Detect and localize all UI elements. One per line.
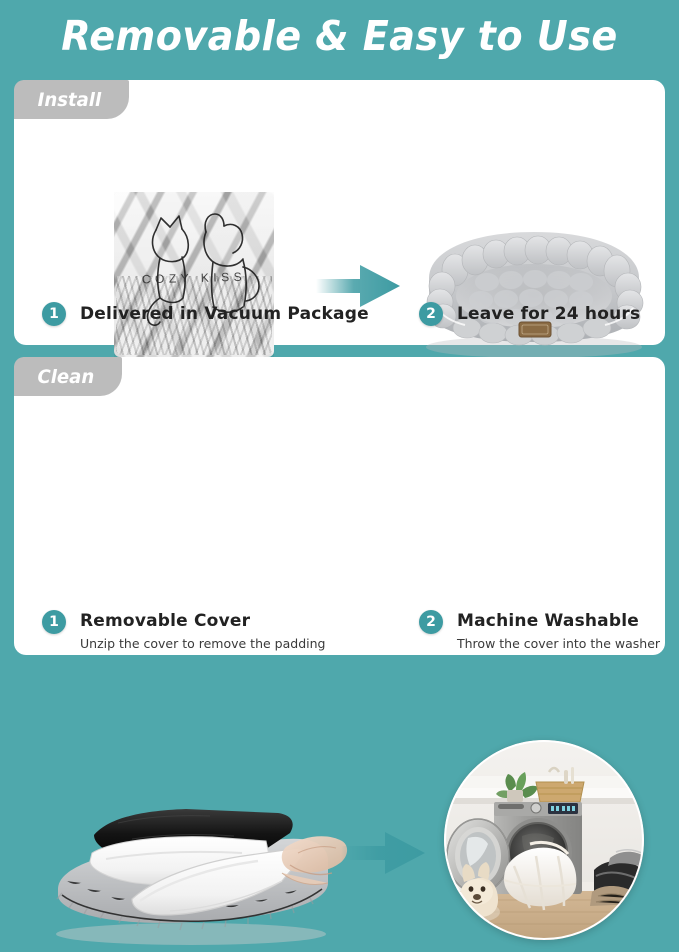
page-title: Removable & Easy to Use	[24, 12, 655, 60]
clean-step-2: 2 Machine Washable Throw the cover into …	[419, 610, 660, 653]
step-number-badge: 2	[419, 610, 443, 634]
section-tab-label: Clean	[37, 366, 94, 388]
install-step-1: 1 Delivered in Vacuum Package	[42, 302, 369, 326]
section-tab-label: Install	[38, 89, 102, 111]
step-subtitle: Unzip the cover to remove the padding	[80, 635, 325, 653]
arrow-right-icon	[339, 827, 429, 879]
section-tab-install: Install	[14, 80, 129, 119]
vacuum-package-photo: COZY KISS	[114, 192, 274, 357]
step-number-badge: 1	[42, 610, 66, 634]
install-panel: COZY KISS	[14, 80, 665, 345]
step-title: Delivered in Vacuum Package	[80, 302, 369, 326]
step-number-badge: 1	[42, 302, 66, 326]
step-subtitle: Throw the cover into the washer	[457, 635, 660, 653]
install-step-2: 2 Leave for 24 hours	[419, 302, 640, 326]
step-title: Leave for 24 hours	[457, 302, 640, 326]
clean-step-1: 1 Removable Cover Unzip the cover to rem…	[42, 610, 325, 653]
section-tab-clean: Clean	[14, 357, 122, 396]
removable-cover-photo	[36, 777, 351, 952]
clean-panel: 1 Removable Cover Unzip the cover to rem…	[14, 357, 665, 655]
dog-bed-photo	[409, 208, 659, 360]
step-title: Removable Cover	[80, 610, 325, 632]
infographic-page: Removable & Easy to Use	[0, 0, 679, 679]
step-title: Machine Washable	[457, 610, 660, 632]
washing-machine-photo	[444, 740, 644, 940]
step-number-badge: 2	[419, 302, 443, 326]
